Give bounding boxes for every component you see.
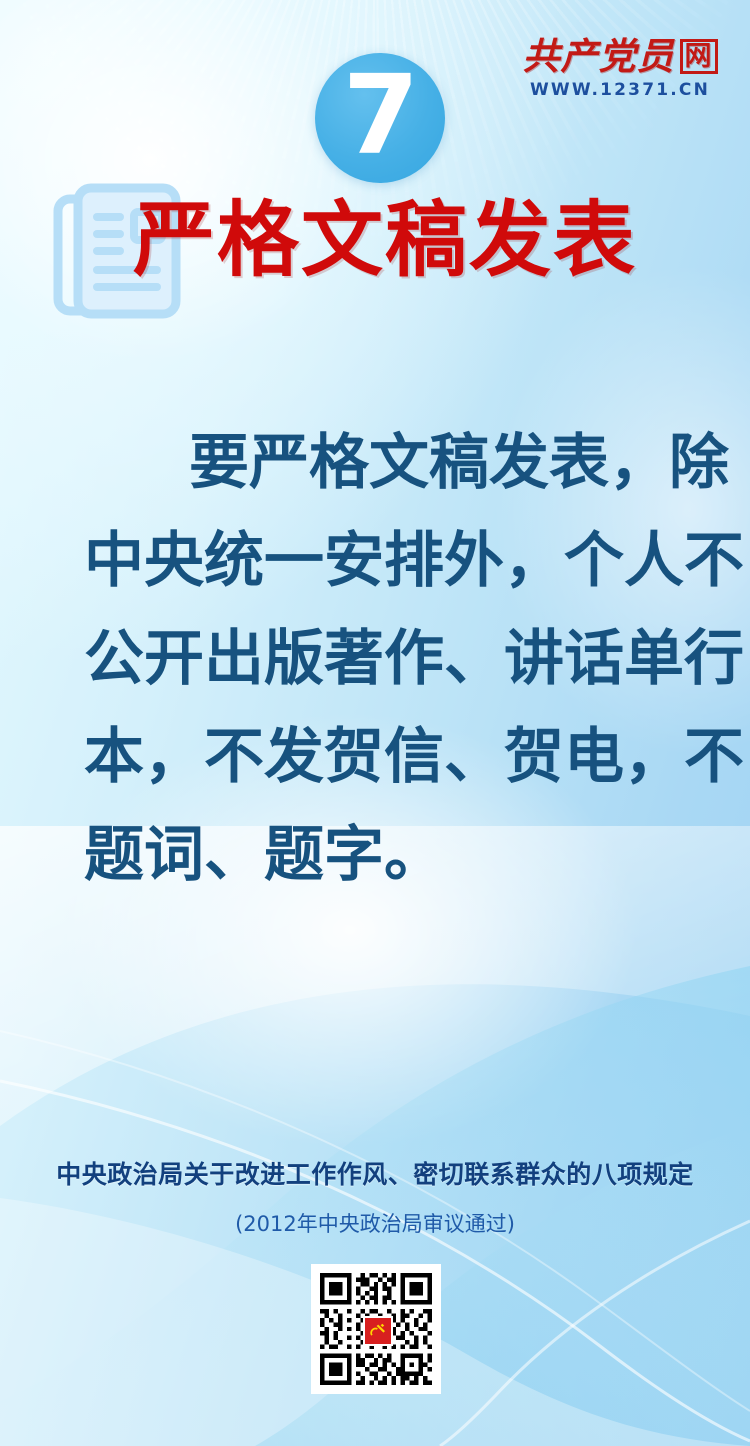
site-logo-name: 共产党员 网 <box>512 38 728 75</box>
qr-code[interactable] <box>311 1264 441 1394</box>
site-logo-url: WWW.12371.CN <box>512 80 728 100</box>
party-emblem-icon <box>363 1316 393 1346</box>
hammer-sickle-glyph <box>368 1323 388 1339</box>
site-logo-boxed-char: 网 <box>680 39 718 74</box>
page-title: 严格文稿发表 <box>133 200 637 282</box>
site-logo-name-text: 共产党员 <box>523 38 675 75</box>
footer-regulation-title: 中央政治局关于改进工作作风、密切联系群众的八项规定 <box>0 1155 750 1191</box>
item-number-value: 7 <box>343 60 420 170</box>
body-line-2: 中央统一安排外，个人不 <box>84 512 668 610</box>
body-line-5: 题词、题字。 <box>84 806 668 904</box>
body-line-1: 要严格文稿发表，除 <box>84 414 668 512</box>
item-number-badge: 7 <box>315 53 445 183</box>
footer-regulation-subtitle: (2012年中央政治局审议通过) <box>0 1208 750 1238</box>
poster-root: 共产党员 网 WWW.12371.CN 7 严格文稿发表 要严格文稿发表，除 <box>0 0 750 1446</box>
site-logo[interactable]: 共产党员 网 WWW.12371.CN <box>512 38 728 100</box>
body-line-4: 本，不发贺信、贺电，不 <box>84 708 668 806</box>
body-line-3: 公开出版著作、讲话单行 <box>84 610 668 708</box>
body-copy: 要严格文稿发表，除 中央统一安排外，个人不 公开出版著作、讲话单行 本，不发贺信… <box>84 414 668 904</box>
